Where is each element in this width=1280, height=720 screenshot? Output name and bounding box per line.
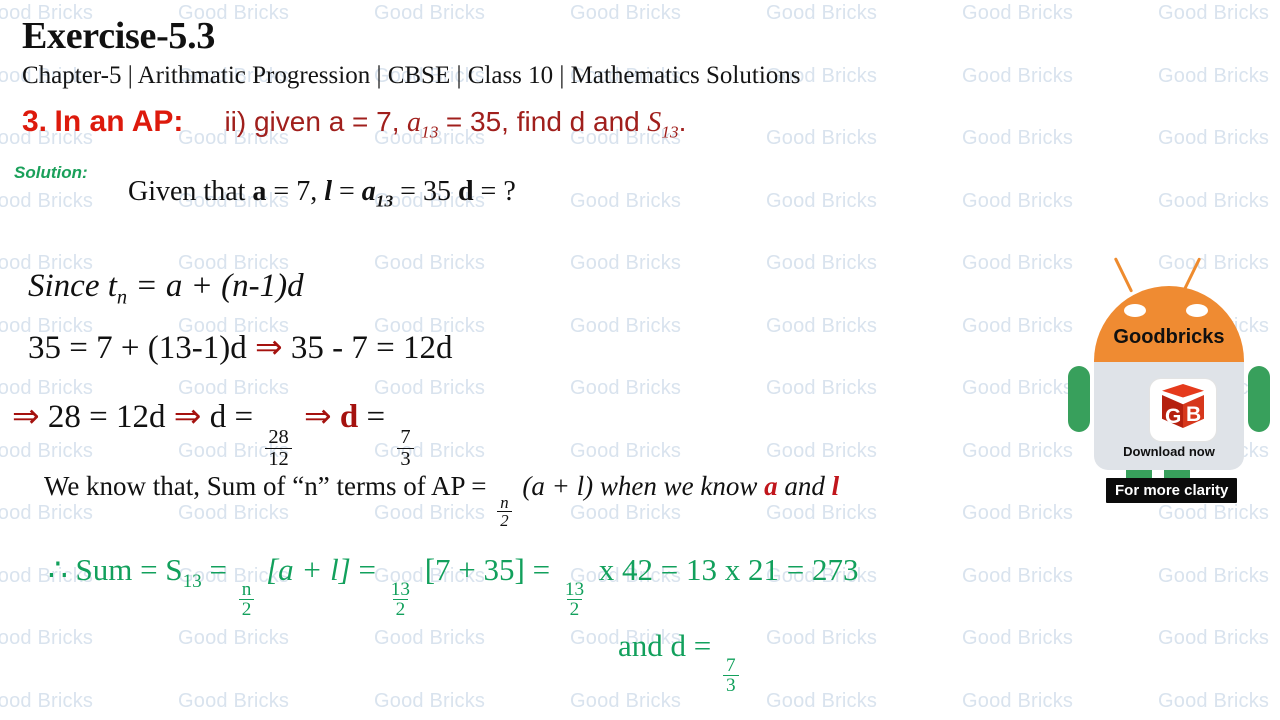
fraction-numerator: 7 [723,656,739,676]
implies-arrow-icon: ⇒ [174,399,202,435]
given-a-symbol: a [252,176,266,207]
fraction-28-12: 28 12 [265,427,291,470]
goodbricks-mascot-logo[interactable]: Goodbricks G B Download now For more cla… [1062,252,1276,514]
given-equals: = [339,176,355,207]
given-a13-index: 13 [376,192,393,211]
given-d-symbol: d [458,176,474,207]
fraction-denominator: 3 [723,675,739,696]
question-line: 3. In an AP: ii) given a = 7, a13 = 35, … [22,107,686,141]
weknow-and: and [784,471,825,501]
given-l-symbol: l [324,176,332,207]
fraction-n-2: n 2 [497,494,511,529]
eye-right-icon [1186,304,1208,317]
fraction-numerator: 7 [397,427,413,448]
question-part: ii) given a = 7, [224,106,399,137]
implies-arrow-icon: ⇒ [12,399,40,435]
app-icon-card[interactable]: G B [1149,378,1217,442]
fraction-7-3: 7 3 [397,427,413,470]
cube-letter-b: B [1186,404,1201,425]
brand-name: Goodbricks [1094,326,1244,349]
question-prompt-label: In an AP: [55,105,184,138]
fraction-7-3: 7 3 [723,656,739,696]
sum-equals-3: = [533,552,550,587]
question-sum-index: 13 [661,123,678,142]
sum-bracket-2: [7 + 35] [425,552,525,587]
given-a-value: = 7, [273,176,317,207]
sum-subscript: 13 [183,571,202,592]
fraction-denominator: 2 [567,599,583,620]
slide-canvas: Good BricksGood BricksGood BricksGood Br… [0,0,1280,720]
cube-letter-g: G [1165,406,1181,427]
arm-left-icon [1068,366,1090,432]
step2-part-a: 28 = 12d [48,399,166,435]
question-sum-symbol: S [647,107,661,138]
step1-left: 35 = 7 + (13-1)d [28,330,247,366]
question-term-value: = 35, find d and [446,106,640,137]
implies-arrow-icon: ⇒ [304,399,332,435]
final-sum-line: ∴ Sum = S13 = n 2 [a + l] = 13 2 [7 + 35… [48,552,859,620]
sum-bracket-1: [a + l] [266,552,351,587]
sum-equals-2: = [359,552,376,587]
fraction-numerator: 28 [265,427,291,448]
fraction-denominator: 2 [239,599,255,620]
antenna-left-icon [1114,257,1133,292]
step2-equals: = [367,399,386,435]
fraction-numerator: n [239,580,255,600]
fraction-denominator: 3 [397,448,413,470]
formula-since-line: Since tn = a + (n-1)d [28,268,304,310]
fraction-denominator: 2 [393,599,409,620]
page-title: Exercise-5.3 [22,14,215,58]
question-number: 3. [22,105,47,138]
fraction-numerator: n [497,494,511,511]
equation-step-1: 35 = 7 + (13-1)d ⇒ 35 - 7 = 12d [28,327,452,367]
download-now-label[interactable]: Download now [1094,444,1244,459]
eye-left-icon [1124,304,1146,317]
gb-cube-icon: G B [1158,384,1208,436]
sum-tail: x 42 = 13 x 21 = 273 [599,552,859,587]
question-term-index: 13 [421,123,438,142]
step2-part-b: d = [210,399,253,435]
question-period: . [679,106,687,137]
sum-equals-1: = [210,552,227,587]
given-d-value: = ? [481,176,516,207]
implies-arrow-icon: ⇒ [255,330,283,366]
equation-step-2: ⇒ 28 = 12d ⇒ d = 28 12 ⇒ d = 7 3 [12,396,418,470]
question-term-symbol: a [407,107,421,138]
given-line: Given that a = 7, l = a13 = 35 d = ? [128,176,516,212]
step1-right: 35 - 7 = 12d [291,330,453,366]
fraction-n-2: n 2 [239,580,255,620]
weknow-expression: (a + l) [522,471,593,501]
fraction-numerator: 13 [388,580,413,600]
weknow-l-symbol: l [832,471,840,501]
given-a13-symbol: a [362,176,376,207]
fraction-denominator: 12 [265,448,291,470]
arm-right-icon [1248,366,1270,432]
and-d-label: and d = [618,628,711,663]
sum-therefore: ∴ Sum = S [48,552,183,587]
solution-label: Solution: [14,163,88,183]
weknow-tail: when we know [600,471,757,501]
since-lead: Since t [28,268,117,304]
mascot-head: Goodbricks [1094,286,1244,362]
weknow-lead: We know that, Sum of “n” terms of AP = [44,471,487,501]
given-lead: Given that [128,176,245,207]
given-a13-value: = 35 [400,176,451,207]
weknow-a-symbol: a [764,471,778,501]
step2-d-symbol: d [340,399,358,435]
fraction-13-2: 13 2 [562,580,587,620]
fraction-numerator: 13 [562,580,587,600]
sum-formula-line: We know that, Sum of “n” terms of AP = n… [44,471,839,529]
for-more-clarity-banner: For more clarity [1106,478,1237,503]
since-subscript: n [117,287,127,309]
mascot-body: G B Download now [1094,362,1244,470]
fraction-denominator: 2 [497,511,511,529]
since-rest: = a + (n-1)d [135,268,303,304]
page-subtitle: Chapter-5 | Arithmatic Progression | CBS… [22,62,801,90]
fraction-13-2: 13 2 [388,580,413,620]
final-d-line: and d = 7 3 [618,628,743,696]
